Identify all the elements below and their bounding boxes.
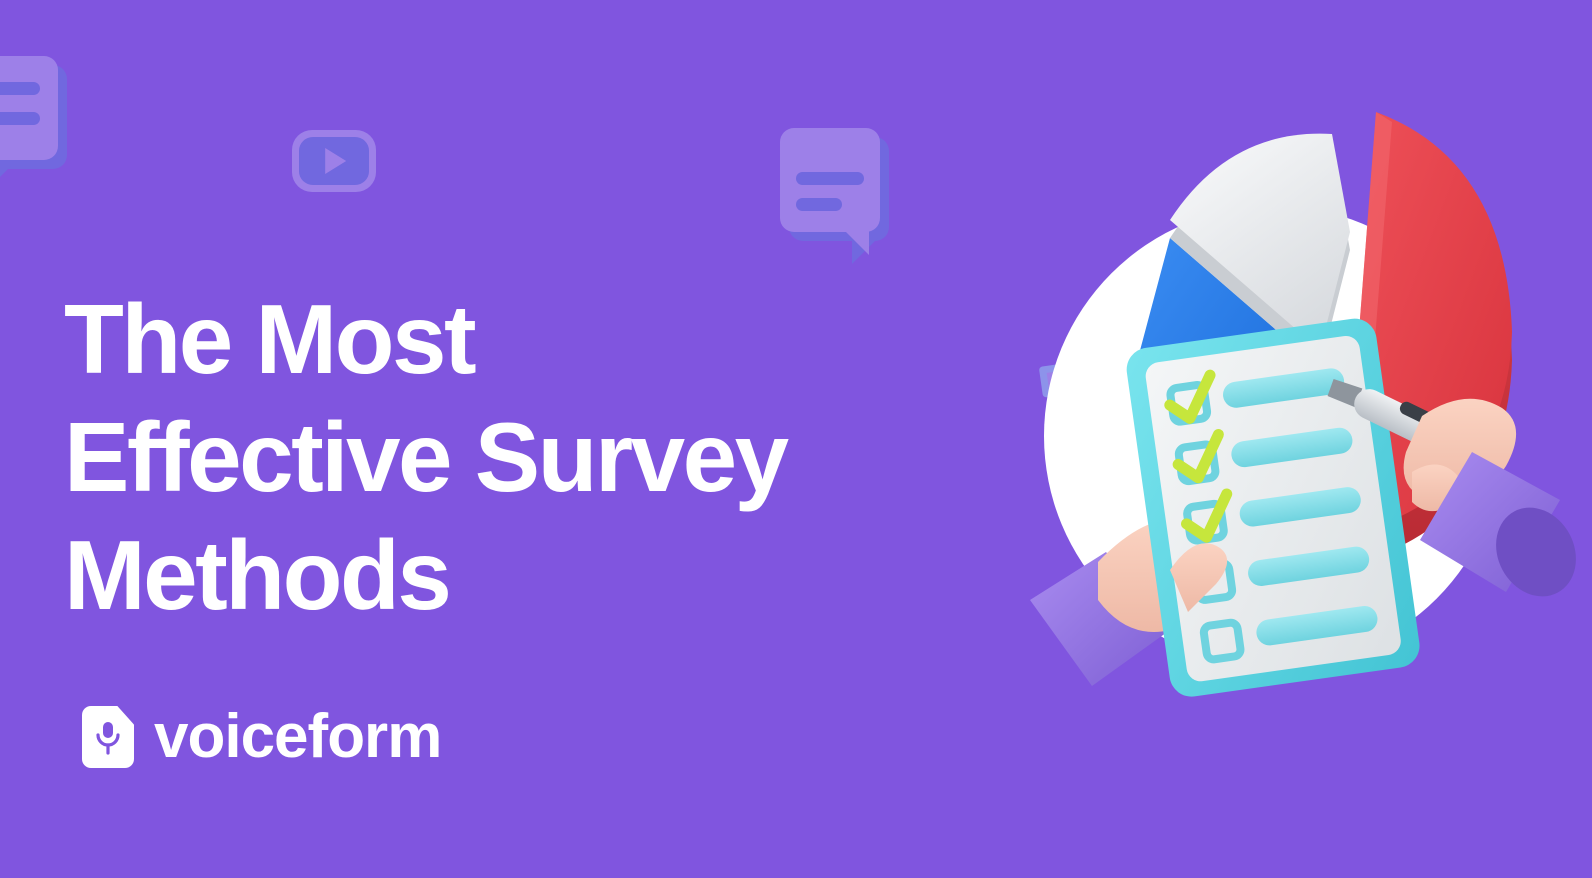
youtube-triangle [325, 148, 346, 174]
right-hand [1404, 399, 1592, 611]
headline-line-1: The Most [64, 280, 1064, 398]
voiceform-logo[interactable]: voiceform [82, 706, 441, 768]
chat-bubble-icon [0, 56, 58, 160]
poster-canvas: The Most Effective Survey Methods voicef… [0, 0, 1592, 878]
chat-bubble-tail [0, 157, 2, 183]
chat-bubble-line [796, 198, 842, 211]
youtube-play-icon [292, 130, 376, 192]
survey-pie-chart-clipboard-illustration [1020, 100, 1580, 700]
chat-bubble-tail [843, 229, 869, 255]
chat-bubble-line [796, 172, 864, 185]
checklist-clipboard [1124, 316, 1423, 700]
page-title: The Most Effective Survey Methods [64, 280, 1064, 634]
logo-wordmark: voiceform [154, 706, 441, 768]
chat-bubble-icon [780, 128, 880, 232]
chat-bubble-line [0, 82, 40, 95]
headline-line-3: Methods [64, 516, 1064, 634]
chat-bubble-line [0, 112, 40, 125]
chat-bubble-body [0, 56, 58, 160]
document-microphone-icon [82, 706, 134, 768]
clipboard-and-hands [1020, 100, 1580, 700]
headline-line-2: Effective Survey [64, 398, 1064, 516]
microphone-glyph [94, 721, 122, 755]
